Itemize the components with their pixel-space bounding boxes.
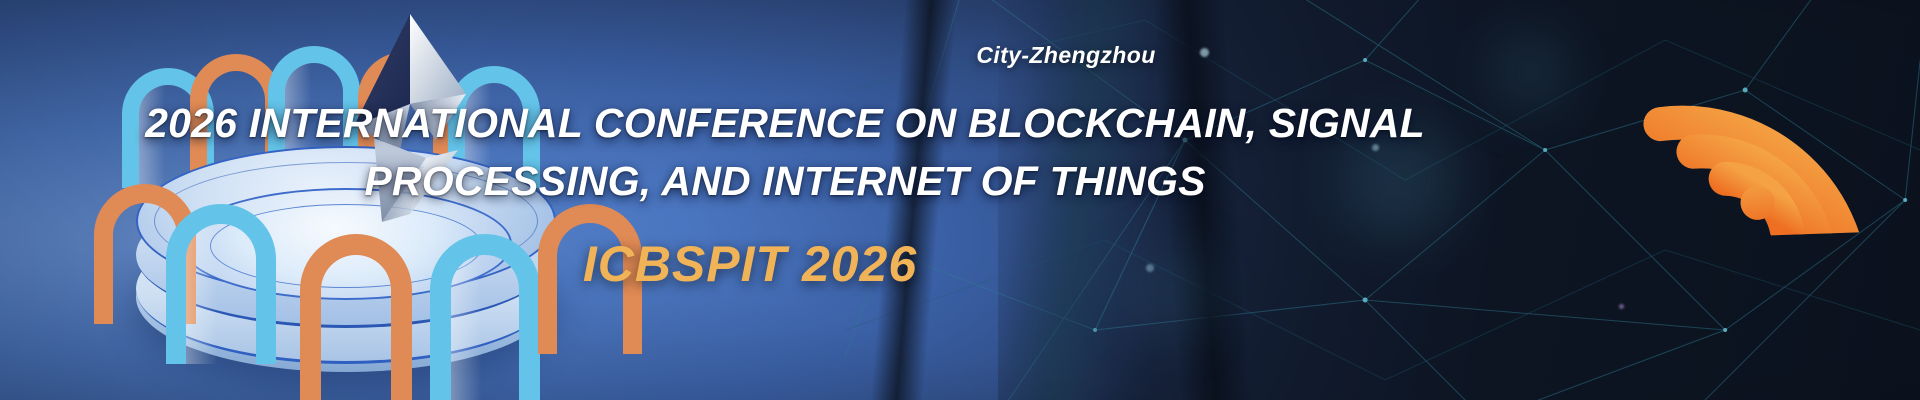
- conference-acronym: ICBSPIT 2026: [0, 235, 1710, 293]
- conference-banner: City-Zhengzhou 2026 INTERNATIONAL CONFER…: [0, 0, 1920, 400]
- city-label: City-Zhengzhou: [106, 42, 1920, 69]
- banner-text: City-Zhengzhou 2026 INTERNATIONAL CONFER…: [0, 0, 1920, 400]
- conference-title-line-2: PROCESSING, AND INTERNET OF THINGS: [0, 158, 1745, 205]
- conference-title-line-1: 2026 INTERNATIONAL CONFERENCE ON BLOCKCH…: [0, 100, 1745, 147]
